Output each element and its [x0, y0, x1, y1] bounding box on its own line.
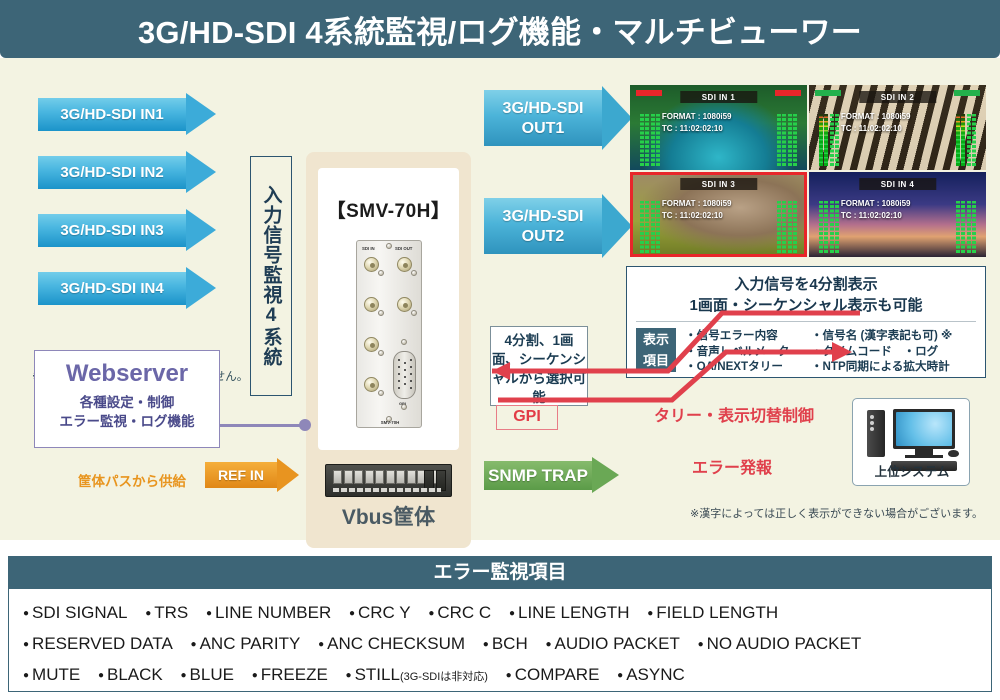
upper-system-label: 上位システム [853, 461, 971, 480]
error-row: SDI SIGNAL TRS LINE NUMBER CRC Y CRC C L… [23, 598, 977, 629]
output-arrow-label-line2: OUT1 [522, 119, 565, 138]
error-item: LINE LENGTH [509, 603, 630, 622]
output-arrow-1: 3G/HD-SDI OUT1 [484, 90, 632, 146]
arrow-head-icon [186, 267, 216, 309]
dsub-pin-holes [398, 357, 413, 395]
screw-icon [378, 350, 384, 356]
bnc-in-4 [364, 377, 379, 392]
quad-cell-timecode: TC : 11:02:02:10 [841, 123, 911, 135]
device-model-name: 【SMV-70H】 [318, 196, 459, 223]
webserver-features: 各種設定・制御 エラー監視・ログ機能 [35, 393, 219, 431]
monitor-icon [893, 409, 955, 449]
gpi-dsub-connector [393, 351, 416, 399]
quad-cell-3: SDI IN 3 FORMAT : 1080i59 TC : 11:02:02:… [630, 172, 807, 257]
input-arrow-3: 3G/HD-SDI IN3 [38, 214, 216, 247]
error-item: FIELD LENGTH [647, 603, 778, 622]
audio-level-meter-right [956, 201, 976, 253]
power-supply-note: 筐体パスから供給 [78, 470, 186, 490]
quad-cell-title: SDI IN 4 [859, 178, 936, 190]
device-card: 【SMV-70H】 SDI IN SDI OUT [306, 152, 471, 548]
input-arrow-2: 3G/HD-SDI IN2 [38, 156, 216, 189]
ref-in-label: REF IN [218, 467, 264, 483]
input-monitor-line1: 入力信号監視 [258, 185, 285, 305]
screw-icon [386, 243, 392, 249]
chassis-block: Vbus筐体 [316, 464, 461, 531]
device-photo-frame: 【SMV-70H】 SDI IN SDI OUT [318, 168, 459, 450]
sdi-in-label: SDI IN [362, 246, 375, 251]
quad-cell-1: SDI IN 1 FORMAT : 1080i59 TC : 11:02:02:… [630, 85, 807, 170]
error-report-label: エラー発報 [692, 454, 772, 478]
tally-bar-right [775, 90, 801, 96]
quad-cell-2: SDI IN 2 FORMAT : 1080i59 TC : 11:02:02:… [809, 85, 986, 170]
arrow-body: 3G/HD-SDI IN1 [38, 98, 186, 131]
diagram-root: 3G/HD-SDI 4系統監視/ログ機能・マルチビューワー 3G/HD-SDI … [0, 0, 1000, 700]
info-item: ・タイムコード ・ログ [811, 344, 952, 360]
quad-cell-info: FORMAT : 1080i59 TC : 11:02:02:10 [841, 198, 911, 222]
error-item: AUDIO PACKET [545, 634, 679, 653]
arrow-body: SNMP TRAP [484, 461, 592, 490]
input-monitor-line2: 4系統 [258, 305, 285, 367]
display-items-badge: 表示 項目 [636, 328, 676, 372]
info-headline-line2: 1画面・シーケンシャル表示も可能 [627, 295, 985, 316]
screw-icon [378, 310, 384, 316]
quad-cell-info: FORMAT : 1080i59 TC : 11:02:02:10 [662, 111, 732, 135]
quad-cell-format: FORMAT : 1080i59 [662, 198, 732, 210]
error-item-label: STILL [355, 665, 400, 684]
error-item: NO AUDIO PACKET [698, 634, 862, 653]
arrow-head-icon [186, 209, 216, 251]
error-monitoring-panel: エラー監視項目 SDI SIGNAL TRS LINE NUMBER CRC Y… [8, 556, 992, 692]
chassis-label: Vbus筐体 [316, 501, 461, 531]
sdi-out-label: SDI OUT [395, 246, 412, 251]
bnc-out-2 [397, 297, 412, 312]
error-item: SDI SIGNAL [23, 603, 127, 622]
input-arrow-4: 3G/HD-SDI IN4 [38, 272, 216, 305]
bnc-in-1 [364, 257, 379, 272]
audio-level-meter-left [819, 201, 839, 253]
chassis-connector-strip [333, 488, 441, 492]
multiviewer-quad-display: SDI IN 1 FORMAT : 1080i59 TC : 11:02:02:… [630, 85, 986, 257]
arrow-body: 3G/HD-SDI OUT2 [484, 198, 602, 254]
monitor-base-icon [905, 455, 943, 458]
audio-level-meter-right [777, 114, 797, 166]
input-arrow-label: 3G/HD-SDI IN3 [60, 222, 163, 239]
out2-option-box: 4分割、1画面、シーケンシャルから選択可能 [490, 326, 588, 406]
error-item: CRC Y [349, 603, 411, 622]
quad-cell-title: SDI IN 1 [680, 91, 757, 103]
error-item: LINE NUMBER [206, 603, 331, 622]
info-body: 表示 項目 ・信号エラー内容 ・音声レベルメーター ・OA/NEXTタリー ・信… [627, 322, 985, 375]
tally-bar-right [954, 90, 980, 96]
page-header: 3G/HD-SDI 4系統監視/ログ機能・マルチビューワー [0, 0, 1000, 58]
error-item: FREEZE [252, 665, 328, 684]
tally-bar-left [815, 90, 841, 96]
audio-level-meter-right [777, 201, 797, 253]
info-headline-line1: 入力信号を4分割表示 [627, 274, 985, 295]
webserver-connection-line [220, 424, 306, 427]
error-item: STILL(3G-SDIは非対応) [346, 665, 488, 684]
arrow-head-icon [602, 86, 632, 150]
audio-level-meter-right [956, 114, 976, 166]
arrow-body: REF IN [205, 462, 277, 488]
error-item: MUTE [23, 665, 80, 684]
info-item: ・信号名 (漢字表記も可) ※ [811, 328, 952, 344]
info-column-left: ・信号エラー内容 ・音声レベルメーター ・OA/NEXTタリー [685, 328, 801, 375]
gpi-label-box: GPI [496, 405, 558, 430]
input-monitor-box: 入力信号監視 4系統 [250, 156, 292, 396]
quad-cell-timecode: TC : 11:02:02:10 [662, 210, 732, 222]
input-arrow-label: 3G/HD-SDI IN4 [60, 280, 163, 297]
input-arrow-1: 3G/HD-SDI IN1 [38, 98, 216, 131]
arrow-head-icon [592, 457, 619, 493]
quad-cell-title: SDI IN 3 [680, 178, 757, 190]
badge-line1: 表示 [636, 329, 676, 350]
webserver-box: Webserver 各種設定・制御 エラー監視・ログ機能 [34, 350, 220, 448]
error-item: ANC CHECKSUM [318, 634, 465, 653]
info-item: ・NTP同期による拡大時計 [811, 359, 952, 375]
quad-cell-info: FORMAT : 1080i59 TC : 11:02:02:10 [662, 198, 732, 222]
upper-system-box: 上位システム [852, 398, 970, 486]
pc-tower-icon [867, 410, 885, 457]
chassis-slots [333, 470, 437, 484]
screw-icon [378, 270, 384, 276]
screw-icon [378, 390, 384, 396]
bnc-out-1 [397, 257, 412, 272]
error-item: ASYNC [617, 665, 685, 684]
quad-cell-timecode: TC : 11:02:02:10 [662, 123, 732, 135]
sdi-module-faceplate: SDI IN SDI OUT [356, 240, 422, 428]
error-item: RESERVED DATA [23, 634, 173, 653]
audio-level-meter-left [640, 201, 660, 253]
gpi-port-label: GPI [399, 401, 406, 406]
output-arrow-label-line1: 3G/HD-SDI [503, 207, 584, 226]
input-arrow-label: 3G/HD-SDI IN2 [60, 164, 163, 181]
arrow-body: 3G/HD-SDI IN4 [38, 272, 186, 305]
webserver-feature-line2: エラー監視・ログ機能 [35, 412, 219, 431]
faceplate-model-text: SMV-70H [357, 420, 423, 425]
screw-icon [401, 339, 407, 345]
arrow-body: 3G/HD-SDI OUT1 [484, 90, 602, 146]
arrow-head-icon [277, 458, 299, 492]
input-arrow-label: 3G/HD-SDI IN1 [60, 106, 163, 123]
error-item: ANC PARITY [191, 634, 301, 653]
arrow-head-icon [186, 93, 216, 135]
arrow-body: 3G/HD-SDI IN2 [38, 156, 186, 189]
info-columns: ・信号エラー内容 ・音声レベルメーター ・OA/NEXTタリー ・信号名 (漢字… [685, 328, 952, 375]
error-item: BLACK [98, 665, 163, 684]
output-arrow-label-line2: OUT2 [522, 227, 565, 246]
bnc-in-3 [364, 337, 379, 352]
screw-icon [411, 310, 417, 316]
bnc-in-2 [364, 297, 379, 312]
info-item: ・信号エラー内容 [685, 328, 801, 344]
info-item: ・OA/NEXTタリー [685, 359, 801, 375]
info-item: ・音声レベルメーター [685, 344, 801, 360]
quad-cell-info: FORMAT : 1080i59 TC : 11:02:02:10 [841, 111, 911, 135]
diagram-canvas: 3G/HD-SDI IN1 3G/HD-SDI IN2 3G/HD-SDI IN… [0, 58, 1000, 540]
tally-bar-left [636, 90, 662, 96]
screw-icon [411, 270, 417, 276]
error-row: MUTE BLACK BLUE FREEZE STILL(3G-SDIは非対応)… [23, 660, 977, 692]
quad-cell-4: SDI IN 4 FORMAT : 1080i59 TC : 11:02:02:… [809, 172, 986, 257]
quad-cell-format: FORMAT : 1080i59 [841, 111, 911, 123]
error-item-note: (3G-SDIは非対応) [400, 671, 488, 683]
output-arrow-2: 3G/HD-SDI OUT2 [484, 198, 632, 254]
display-info-panel: 入力信号を4分割表示 1画面・シーケンシャル表示も可能 表示 項目 ・信号エラー… [626, 266, 986, 378]
vbus-chassis-image [325, 464, 452, 497]
arrow-head-icon [602, 194, 632, 258]
audio-level-meter-left [819, 114, 839, 166]
quad-cell-title: SDI IN 2 [859, 91, 936, 103]
snmp-trap-arrow: SNMP TRAP [484, 461, 619, 490]
output-arrow-label-line1: 3G/HD-SDI [503, 99, 584, 118]
quad-cell-format: FORMAT : 1080i59 [662, 111, 732, 123]
error-item-rows: SDI SIGNAL TRS LINE NUMBER CRC Y CRC C L… [9, 589, 991, 692]
quad-cell-timecode: TC : 11:02:02:10 [841, 210, 911, 222]
webserver-title: Webserver [35, 351, 219, 388]
error-item: COMPARE [506, 665, 600, 684]
page-title: 3G/HD-SDI 4系統監視/ログ機能・マルチビューワー [138, 7, 862, 52]
error-item: TRS [145, 603, 188, 622]
arrow-body: 3G/HD-SDI IN3 [38, 214, 186, 247]
webserver-feature-line1: 各種設定・制御 [35, 393, 219, 412]
error-item: BLUE [180, 665, 233, 684]
arrow-head-icon [186, 151, 216, 193]
kanji-display-note: ※漢字によっては正しく表示ができない場合がございます。 [690, 505, 983, 521]
info-column-right: ・信号名 (漢字表記も可) ※ ・タイムコード ・ログ ・NTP同期による拡大時… [811, 328, 952, 375]
mouse-icon [948, 450, 959, 457]
snmp-trap-label: SNMP TRAP [488, 466, 588, 486]
ref-in-arrow: REF IN [205, 462, 297, 488]
error-row: RESERVED DATA ANC PARITY ANC CHECKSUM BC… [23, 629, 977, 660]
monitor-screen [896, 412, 952, 446]
error-item: CRC C [428, 603, 491, 622]
error-item: BCH [483, 634, 528, 653]
info-headline: 入力信号を4分割表示 1画面・シーケンシャル表示も可能 [627, 267, 985, 316]
audio-level-meter-left [640, 114, 660, 166]
quad-cell-format: FORMAT : 1080i59 [841, 198, 911, 210]
tally-control-label: タリー・表示切替制御 [654, 402, 814, 426]
webserver-connection-node [299, 419, 311, 431]
badge-line2: 項目 [636, 350, 676, 371]
error-panel-title: エラー監視項目 [9, 557, 991, 589]
